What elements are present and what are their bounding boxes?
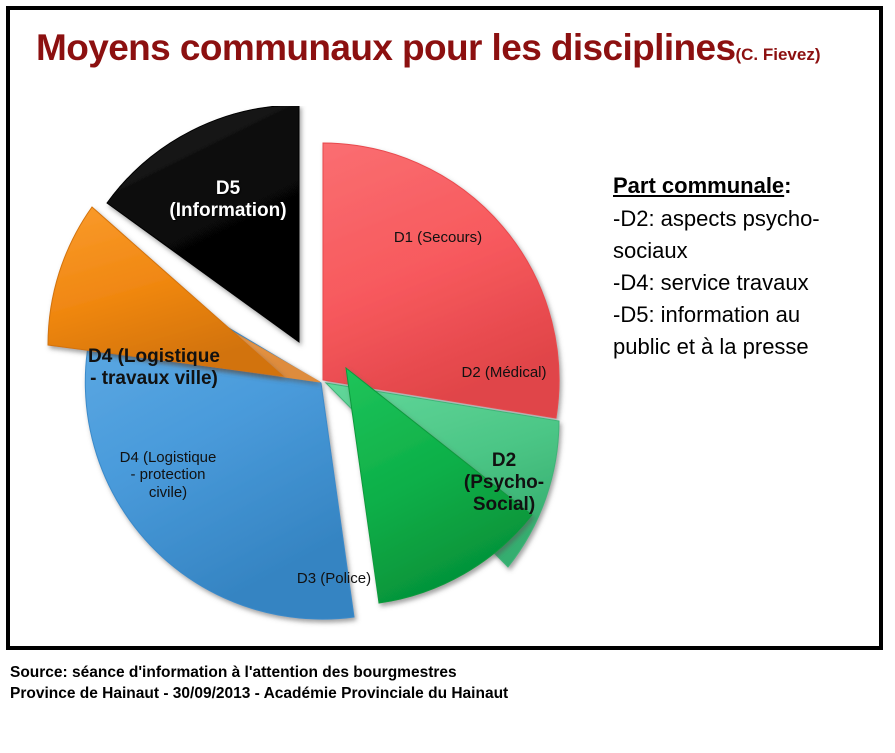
side-note-line-5: public et à la presse (613, 331, 875, 363)
title-main-text: Moyens communaux pour les disciplines (36, 27, 735, 68)
page-title: Moyens communaux pour les disciplines(C.… (36, 28, 866, 68)
source-footer: Source: séance d'information à l'attenti… (10, 662, 880, 704)
side-note-line-1: -D2: aspects psycho- (613, 203, 875, 235)
slide-page: Moyens communaux pour les disciplines(C.… (0, 0, 895, 753)
pie-slice-d1-secours[interactable] (323, 143, 559, 418)
pie-chart-svg (24, 106, 624, 646)
side-note-line-2: sociaux (613, 235, 875, 267)
side-note-heading-text: Part communale (613, 173, 784, 198)
footer-line-1: Source: séance d'information à l'attenti… (10, 662, 880, 683)
footer-line-2: Province de Hainaut - 30/09/2013 - Acadé… (10, 683, 880, 704)
side-note-line-3: -D4: service travaux (613, 267, 875, 299)
slide-frame: Moyens communaux pour les disciplines(C.… (6, 6, 883, 650)
pie-chart: D1 (Secours) D2 (Médical) D2 (Psycho- So… (24, 106, 624, 646)
side-note-heading-suffix: : (784, 173, 791, 198)
title-subtitle-text: (C. Fievez) (735, 45, 820, 64)
side-note-line-4: -D5: information au (613, 299, 875, 331)
side-note-block: Part communale: -D2: aspects psycho- soc… (613, 170, 875, 363)
side-note-heading: Part communale: (613, 170, 875, 202)
